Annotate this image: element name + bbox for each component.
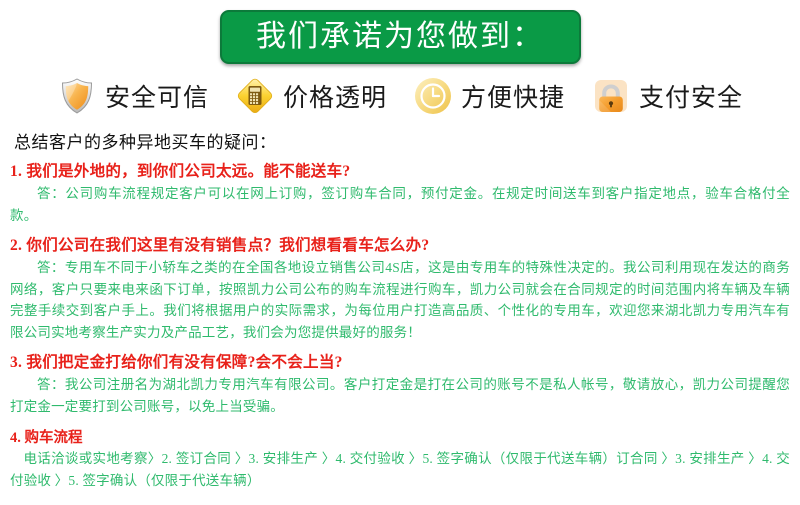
shield-icon xyxy=(57,76,97,116)
banner-row: 我们承诺为您做到： xyxy=(0,0,800,68)
purchase-process-title: 4. 购车流程 xyxy=(10,426,792,447)
lock-icon xyxy=(591,76,631,116)
faq-question-2: 2. 你们公司在我们这里有没有销售点？我们想看看车怎么办? xyxy=(10,233,792,255)
faq-question-1: 1. 我们是外地的，到你们公司太远。能不能送车? xyxy=(10,159,792,181)
feature-item-payment: 支付安全 xyxy=(591,76,743,116)
clock-icon xyxy=(413,76,453,116)
faq-content: 总结客户的多种异地买车的疑问： 1. 我们是外地的，到你们公司太远。能不能送车?… xyxy=(0,124,800,492)
purchase-process-steps: 电话洽谈或实地考察〉2. 签订合同 〉3. 安排生产 〉4. 交付验收 〉5. … xyxy=(10,448,790,492)
faq-answer-2: 答：专用车不同于小轿车之类的在全国各地设立销售公司4S店，这是由专用车的特殊性决… xyxy=(10,257,790,344)
faq-answer-3: 答：我公司注册名为湖北凯力专用汽车有限公司。客户打定金是打在公司的账号不是私人帐… xyxy=(10,374,790,418)
faq-heading: 总结客户的多种异地买车的疑问： xyxy=(14,128,792,153)
promise-banner: 我们承诺为您做到： xyxy=(220,10,581,64)
feature-row: 安全可信 xyxy=(0,68,800,124)
feature-label-security: 安全可信 xyxy=(105,78,209,114)
calculator-icon xyxy=(235,76,275,116)
feature-item-price: 价格透明 xyxy=(235,76,387,116)
faq-answer-1: 答：公司购车流程规定客户可以在网上订购，签订购车合同，预付定金。在规定时间送车到… xyxy=(10,183,790,227)
promo-page: 我们承诺为您做到： xyxy=(0,0,800,505)
faq-question-3: 3. 我们把定金打给你们有没有保障?会不会上当? xyxy=(10,350,792,372)
banner-title: 我们承诺为您做到： xyxy=(256,22,544,52)
feature-label-convenient: 方便快捷 xyxy=(461,78,565,114)
feature-item-convenient: 方便快捷 xyxy=(413,76,565,116)
feature-label-payment: 支付安全 xyxy=(639,78,743,114)
feature-item-security: 安全可信 xyxy=(57,76,209,116)
feature-label-price: 价格透明 xyxy=(283,78,387,114)
